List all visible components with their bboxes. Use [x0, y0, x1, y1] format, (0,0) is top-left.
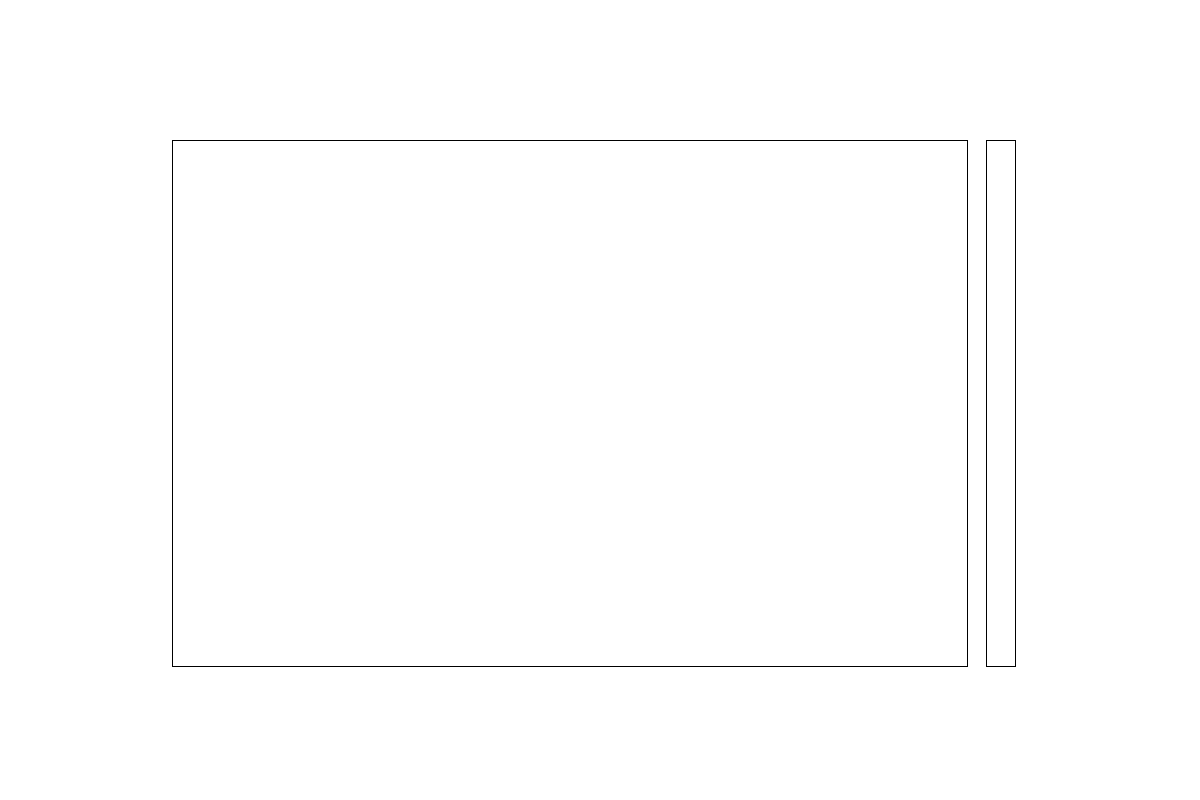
colorbar-gradient	[986, 140, 1014, 665]
radar-plot-figure	[0, 0, 1200, 800]
reflectivity-heatmap	[172, 140, 966, 665]
